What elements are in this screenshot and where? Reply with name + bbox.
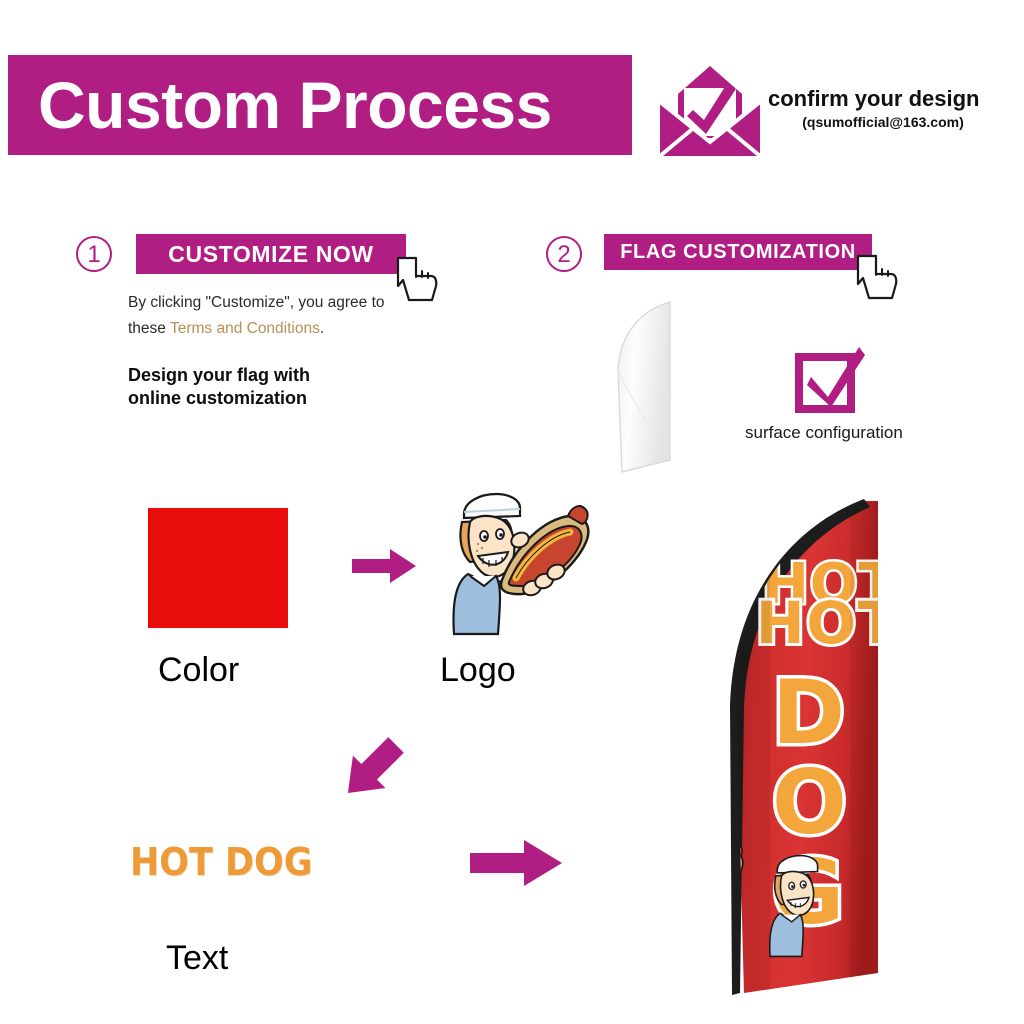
text-label: Text xyxy=(166,938,228,978)
customize-now-button[interactable]: CUSTOMIZE NOW xyxy=(136,234,406,274)
arrow-down-left-icon xyxy=(330,730,414,808)
contact-email: (qsumofficial@163.com) xyxy=(768,114,998,130)
design-note: Design your flag with online customizati… xyxy=(128,364,428,410)
design-note-line2: online customization xyxy=(128,387,428,410)
envelope-check-icon xyxy=(656,58,764,158)
step-number-1: 1 xyxy=(76,236,112,272)
blank-feather-flag-icon xyxy=(608,300,684,476)
confirm-design-label: confirm your design xyxy=(768,86,1020,112)
hand-pointer-icon xyxy=(852,254,904,310)
hot-dog-feather-flag: HOT HOT D O G xyxy=(700,495,1000,1000)
color-swatch[interactable] xyxy=(148,508,288,628)
terms-and-conditions-link[interactable]: Terms and Conditions xyxy=(170,320,320,337)
checkbox-tick-icon xyxy=(795,345,867,417)
logo-label: Logo xyxy=(440,650,516,690)
hotdog-vendor-logo xyxy=(440,482,600,642)
surface-configuration-label: surface configuration xyxy=(745,423,995,443)
color-label: Color xyxy=(158,650,239,690)
design-note-line1: Design your flag with xyxy=(128,364,428,387)
flag-customization-button[interactable]: FLAG CUSTOMIZATION xyxy=(604,234,872,270)
terms-suffix: . xyxy=(320,320,324,337)
confirm-design-block: confirm your design (qsumofficial@163.co… xyxy=(768,86,1020,130)
hot-dog-sample-text: HOT DOG xyxy=(130,840,312,884)
arrow-right-icon xyxy=(352,548,416,584)
poster-canvas: Custom Process confirm your design (qsum… xyxy=(0,0,1024,1024)
step-number-2: 2 xyxy=(546,236,582,272)
page-title: Custom Process xyxy=(38,68,552,142)
terms-paragraph: By clicking "Customize", you agree to th… xyxy=(128,290,418,342)
arrow-right-icon xyxy=(470,838,562,888)
